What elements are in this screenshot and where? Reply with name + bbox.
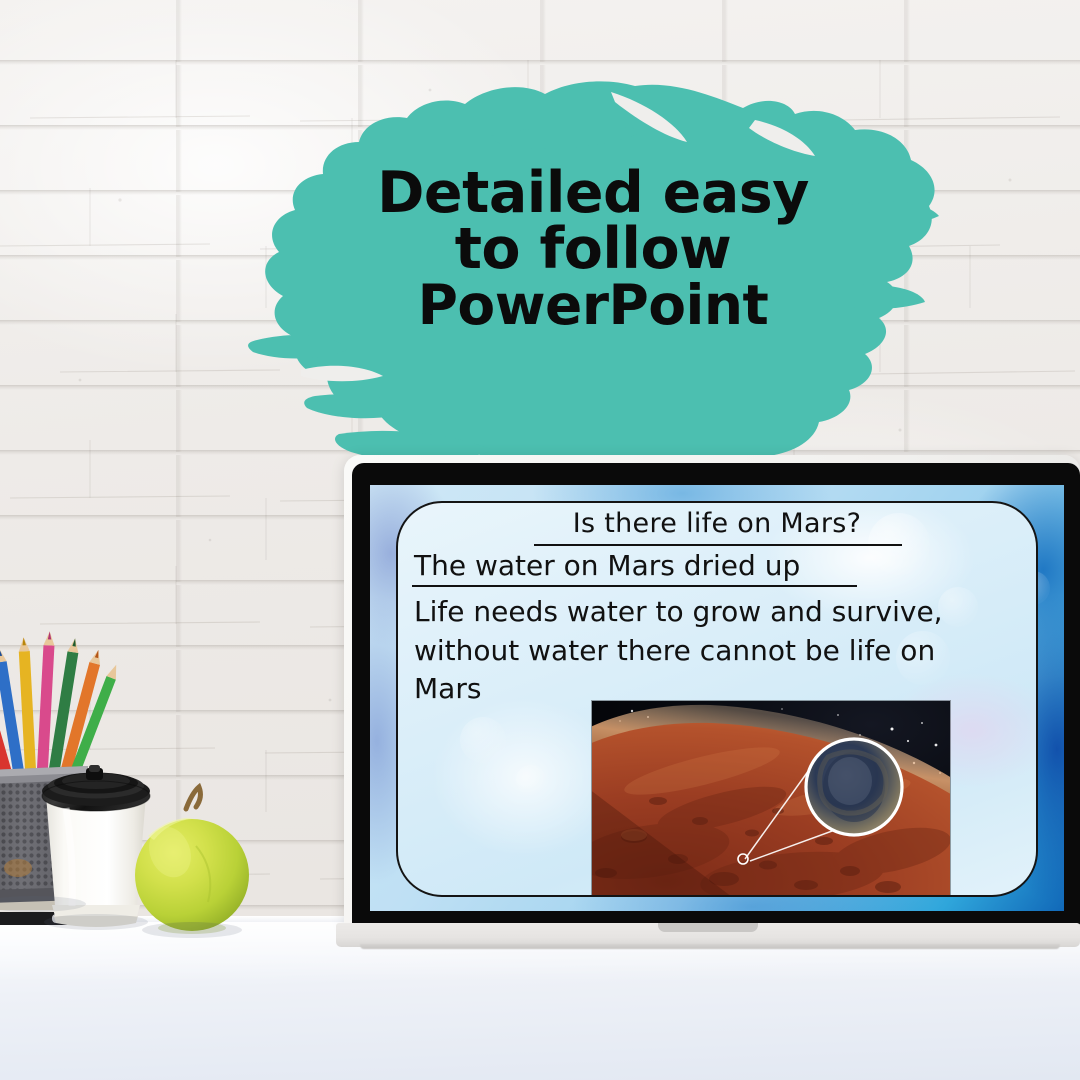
desk-props bbox=[0, 600, 300, 1000]
desk-props-illustration bbox=[0, 600, 300, 1000]
laptop-base-lip bbox=[360, 944, 1060, 949]
slide-body-line-1: Life needs water to grow and survive, bbox=[414, 593, 1022, 632]
slide-text-area: Is there life on Mars? The water on Mars… bbox=[398, 503, 1036, 709]
slide-title-underline bbox=[534, 544, 902, 546]
laptop-screen[interactable]: Is there life on Mars? The water on Mars… bbox=[370, 485, 1064, 911]
laptop-base-notch bbox=[658, 923, 758, 932]
slide-content-panel: Is there life on Mars? The water on Mars… bbox=[396, 501, 1038, 897]
mars-image bbox=[592, 701, 950, 897]
brush-stroke-shape bbox=[243, 78, 943, 478]
slide-body-text: Life needs water to grow and survive, wi… bbox=[412, 593, 1022, 709]
apple-stem bbox=[186, 787, 200, 809]
product-mockup-scene: Detailed easy to follow PowerPoint bbox=[0, 0, 1080, 1080]
slide-title: Is there life on Mars? bbox=[412, 509, 1022, 539]
laptop: Is there life on Mars? The water on Mars… bbox=[336, 455, 1080, 945]
slide-subtitle-underline bbox=[412, 585, 857, 587]
mars-illustration bbox=[592, 701, 950, 897]
green-apple bbox=[135, 787, 249, 934]
slide-title-text: Is there life on Mars? bbox=[573, 508, 861, 539]
teal-brush-banner bbox=[243, 78, 943, 478]
slide-subtitle-text: The water on Mars dried up bbox=[414, 549, 800, 582]
slide-subtitle: The water on Mars dried up bbox=[412, 551, 1022, 582]
slide-body-line-2: without water there cannot be life on bbox=[414, 632, 1022, 671]
